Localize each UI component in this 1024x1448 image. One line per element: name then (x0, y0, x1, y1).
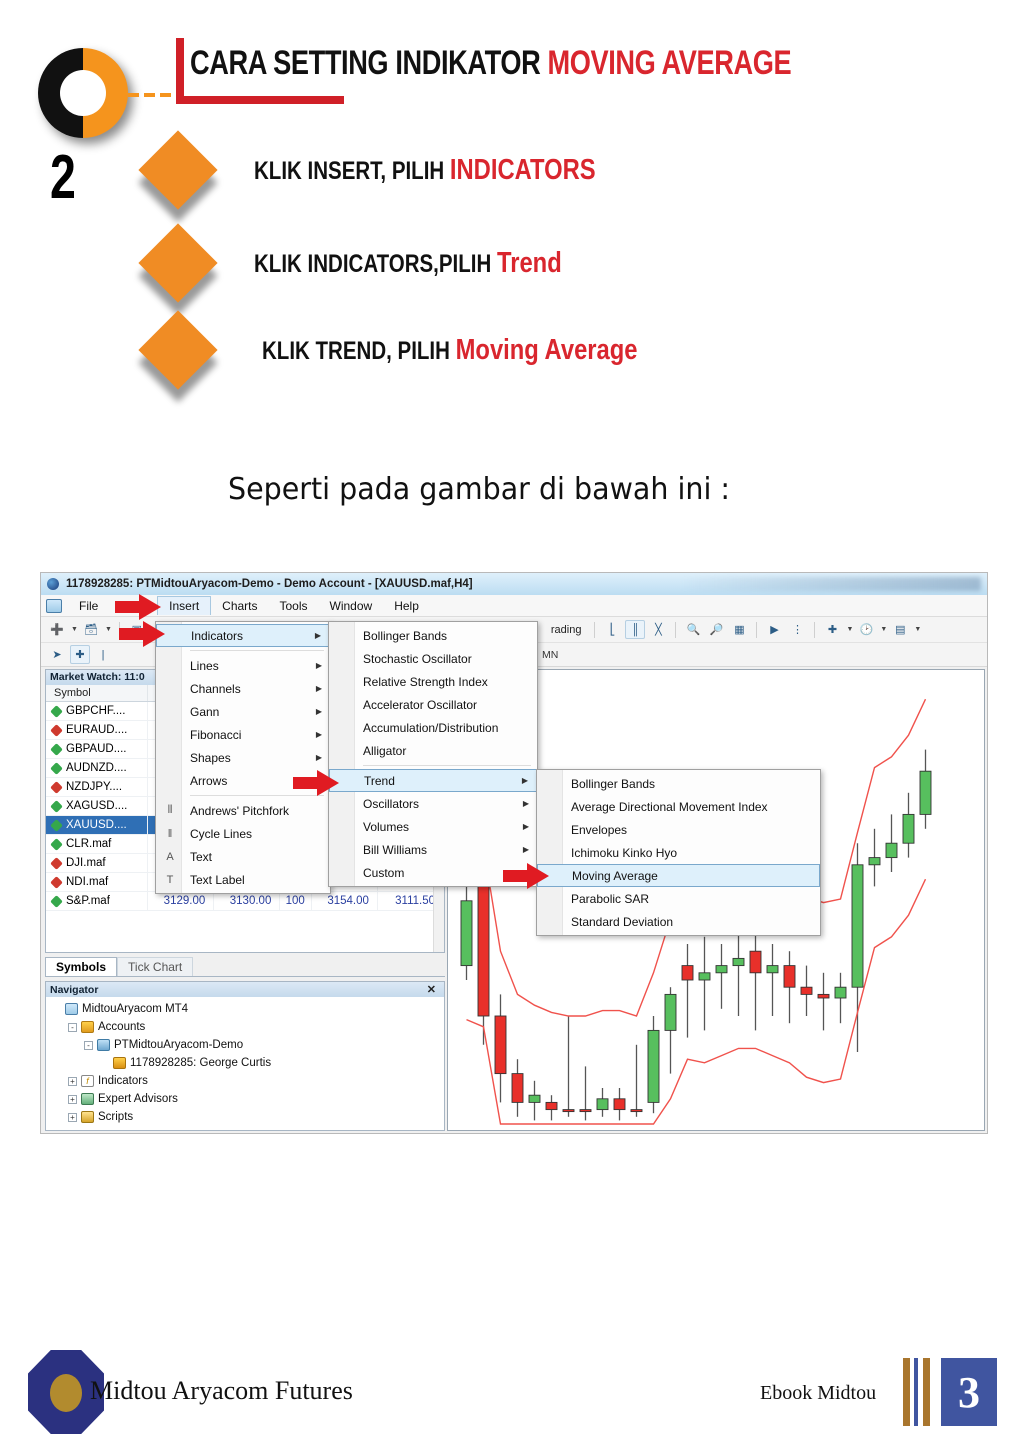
tree-node[interactable]: -Accounts (52, 1018, 444, 1036)
brand-ring-logo (38, 48, 128, 138)
candle-body (461, 901, 472, 966)
caption-text: Seperti pada gambar di bawah ini : (228, 472, 730, 507)
insert-dropdown-menu[interactable]: Indicators▶Lines▶Channels▶Gann▶Fibonacci… (155, 621, 331, 894)
candle-body (529, 1095, 540, 1102)
menu-item-trend[interactable]: Trend▶ (329, 769, 537, 792)
navigator-title: Navigator (50, 984, 98, 996)
menu-separator (363, 765, 531, 766)
menu-item-bollinger-bands[interactable]: Bollinger Bands (329, 624, 537, 647)
blurred-taskbar-region (681, 577, 981, 591)
bullet-accent-2: Trend (497, 247, 562, 279)
candle-body (886, 843, 897, 857)
tree-node[interactable]: -PTMidtouAryacom-Demo (52, 1036, 444, 1054)
bullet-accent-1: INDICATORS (450, 154, 596, 186)
trend-submenu[interactable]: Bollinger BandsAverage Directional Movem… (536, 769, 821, 936)
menu-insert[interactable]: Insert (157, 596, 211, 615)
menu-item-moving-average[interactable]: Moving Average (537, 864, 820, 887)
candle-body (597, 1099, 608, 1110)
chevron-right-icon: ▶ (316, 661, 322, 670)
candle-body (699, 973, 710, 980)
candle-body (665, 994, 676, 1030)
mt4-screenshot: 1178928285: PTMidtouAryacom-Demo - Demo … (40, 572, 988, 1134)
navigator-panel: Navigator ✕ MidtouAryacom MT4-Accounts-P… (45, 981, 445, 1131)
candle-body (512, 1074, 523, 1103)
chevron-right-icon: ▶ (315, 631, 321, 640)
expert-advisors-icon (81, 1093, 94, 1105)
menu-item-label: Ichimoku Kinko Hyo (571, 846, 677, 860)
page-number-badge: 3 (941, 1358, 997, 1426)
candlestick-chart-icon[interactable]: ║ (625, 620, 645, 639)
symbol-label: XAGUSD.... (66, 800, 127, 812)
timeframe-clock-icon[interactable]: 🕑 (856, 620, 876, 639)
annotation-arrow-moving-average (503, 863, 549, 889)
menu-item-accumulation-distribution[interactable]: Accumulation/Distribution (329, 716, 537, 739)
company-name: Midtou Aryacom Futures (90, 1376, 353, 1406)
candle-body (495, 1016, 506, 1074)
up-arrow-icon (50, 800, 63, 813)
mt4-title-text: 1178928285: PTMidtouAryacom-Demo - Demo … (66, 578, 473, 590)
menu-item-label: Volumes (363, 820, 409, 834)
menu-item-label: Accumulation/Distribution (363, 721, 498, 735)
menu-item-gann[interactable]: Gann▶ (156, 700, 330, 723)
diamond-bullet-icon (138, 130, 217, 209)
menu-item-label: Bollinger Bands (363, 629, 447, 643)
menu-file[interactable]: File (68, 599, 109, 613)
col-symbol[interactable]: Symbol (46, 685, 148, 701)
symbol-cell: GBPCHF.... (46, 702, 148, 720)
menu-item-label: Cycle Lines (190, 827, 252, 841)
bullet-plain-3: KLIK TREND, PILIH (262, 337, 456, 365)
symbol-label: S&P.maf (66, 895, 110, 907)
tree-node-label: 1178928285: George Curtis (130, 1057, 271, 1069)
symbol-cell: AUDNZD.... (46, 759, 148, 777)
symbol-label: EURAUD.... (66, 724, 127, 736)
menu-item-cycle-lines[interactable]: ‖Cycle Lines (156, 822, 330, 845)
menu-item-text-label[interactable]: TText Label (156, 868, 330, 891)
menu-item-label: Average Directional Movement Index (571, 800, 768, 814)
company-logo-inner-circle (50, 1374, 82, 1412)
bar-chart-icon[interactable]: ⎣ (602, 620, 622, 639)
close-icon[interactable]: ✕ (427, 983, 440, 996)
menu-item-standard-deviation[interactable]: Standard Deviation (537, 910, 820, 933)
menu-item-stochastic-oscillator[interactable]: Stochastic Oscillator (329, 647, 537, 670)
line-chart-icon[interactable]: ╳ (648, 620, 668, 639)
menu-item-lines[interactable]: Lines▶ (156, 654, 330, 677)
indicators-submenu[interactable]: Bollinger BandsStochastic OscillatorRela… (328, 621, 538, 887)
menu-item-indicators[interactable]: Indicators▶ (156, 624, 330, 647)
diamond-bullet-icon (138, 310, 217, 389)
expander-toggle[interactable]: - (84, 1041, 93, 1050)
symbol-label: NDI.maf (66, 876, 108, 888)
tree-node[interactable]: 1178928285: George Curtis (52, 1054, 444, 1072)
mt4-icon (65, 1003, 78, 1015)
bullet-accent-3: Moving Average (456, 334, 638, 366)
up-arrow-icon (50, 762, 63, 775)
symbol-label: GBPAUD.... (66, 743, 127, 755)
up-arrow-icon (50, 705, 63, 718)
menu-item-label: Envelopes (571, 823, 627, 837)
menu-item-label: Bollinger Bands (571, 777, 655, 791)
menu-item-bollinger-bands[interactable]: Bollinger Bands (537, 772, 820, 795)
tree-node-label: MidtouAryacom MT4 (82, 1003, 188, 1015)
accounts-icon (81, 1021, 94, 1033)
bullet-text-2: KLIK INDICATORS,PILIH Trend (254, 247, 562, 280)
symbol-cell: GBPAUD.... (46, 740, 148, 758)
menu-item-label: Gann (190, 705, 219, 719)
symbol-cell: NDI.maf (46, 873, 148, 891)
candle-body (920, 771, 931, 814)
menu-item-ichimoku-kinko-hyo[interactable]: Ichimoku Kinko Hyo (537, 841, 820, 864)
candle-body (903, 814, 914, 843)
page-header: CARA SETTING INDIKATOR MOVING AVERAGE (0, 0, 1024, 140)
menu-item-label: Trend (364, 774, 395, 788)
spread-cell: 100 (280, 892, 311, 910)
tree-node[interactable]: +Scripts (52, 1108, 444, 1126)
market-watch-tabs: Symbols Tick Chart (45, 955, 445, 977)
menu-item-label: Accelerator Oscillator (363, 698, 477, 712)
chevron-right-icon: ▶ (316, 707, 322, 716)
chevron-right-icon: ▶ (523, 799, 529, 808)
page-title-main: CARA SETTING INDIKATOR (190, 44, 548, 82)
bullet-plain-2: KLIK INDICATORS,PILIH (254, 250, 497, 278)
tree-node[interactable]: MidtouAryacom MT4 (52, 1000, 444, 1018)
candle-body (716, 966, 727, 973)
menu-item-label: Shapes (190, 751, 231, 765)
tree-node-label: Indicators (98, 1075, 148, 1087)
bullet-text-1: KLIK INSERT, PILIH INDICATORS (254, 154, 596, 187)
tab-tick-chart[interactable]: Tick Chart (117, 957, 193, 976)
chevron-right-icon: ▶ (316, 730, 322, 739)
title-rule-horizontal (176, 96, 344, 104)
symbol-label: NZDJPY.... (66, 781, 122, 793)
mt4-app-icon (47, 578, 59, 590)
expander-toggle[interactable]: + (68, 1077, 77, 1086)
mt4-title-bar: 1178928285: PTMidtouAryacom-Demo - Demo … (41, 573, 988, 595)
ebook-label: Ebook Midtou (760, 1382, 876, 1405)
up-arrow-icon (50, 743, 63, 756)
expander-toggle[interactable]: - (68, 1023, 77, 1032)
candle-body (648, 1030, 659, 1102)
tile-windows-icon[interactable]: ▦ (729, 620, 749, 639)
scripts-icon (81, 1111, 94, 1123)
add-indicator-icon[interactable]: ✚ (822, 620, 842, 639)
menu-item-fibonacci[interactable]: Fibonacci▶ (156, 723, 330, 746)
menu-item-accelerator-oscillator[interactable]: Accelerator Oscillator (329, 693, 537, 716)
zoom-out-icon[interactable]: 🔎 (706, 620, 726, 639)
menu-item-label: Arrows (190, 774, 227, 788)
symbol-label: GBPCHF.... (66, 705, 125, 717)
up-arrow-icon (50, 895, 63, 908)
annotation-arrow-indicators (119, 621, 165, 647)
server-icon (97, 1039, 110, 1051)
cursor-icon[interactable]: ➤ (47, 645, 67, 664)
menu-charts[interactable]: Charts (211, 599, 268, 613)
expander-toggle[interactable]: + (68, 1095, 77, 1104)
menu-separator (190, 650, 324, 651)
symbol-cell: XAGUSD.... (46, 797, 148, 815)
menu-item-label: Channels (190, 682, 241, 696)
autotrading-label[interactable]: rading (545, 624, 588, 636)
menu-item-label: Alligator (363, 744, 406, 758)
menu-item-label: Lines (190, 659, 219, 673)
symbol-cell: XAUUSD.... (46, 816, 148, 834)
tree-node-label: Scripts (98, 1111, 133, 1123)
candle-body (801, 987, 812, 994)
templates-icon[interactable]: ▤ (890, 620, 910, 639)
chevron-right-icon: ▶ (523, 845, 529, 854)
candle-body (818, 994, 829, 998)
profiles-icon[interactable]: 🗃 (81, 620, 101, 639)
tab-symbols[interactable]: Symbols (45, 957, 117, 976)
symbol-label: DJI.maf (66, 857, 106, 869)
menu-item-parabolic-sar[interactable]: Parabolic SAR (537, 887, 820, 910)
expander-toggle[interactable]: + (68, 1113, 77, 1122)
chevron-right-icon: ▶ (316, 684, 322, 693)
menu-item-label: Custom (363, 866, 404, 880)
ask-cell: 3130.00 (214, 892, 280, 910)
symbol-label: AUDNZD.... (66, 762, 127, 774)
symbol-cell: EURAUD.... (46, 721, 148, 739)
table-row[interactable]: S&P.maf3129.003130.001003154.003111.50 (46, 892, 444, 911)
diamond-bullet-icon (138, 223, 217, 302)
candle-body (733, 958, 744, 965)
menu-item-volumes[interactable]: Volumes▶ (329, 815, 537, 838)
menu-item-label: Text Label (190, 873, 245, 887)
annotation-arrow-trend (293, 770, 339, 796)
tree-node[interactable]: +Expert Advisors (52, 1090, 444, 1108)
menu-item-label: Text (190, 850, 212, 864)
menu-window[interactable]: Window (319, 599, 384, 613)
chevron-right-icon: ▶ (522, 776, 528, 785)
tree-node-label: Expert Advisors (98, 1093, 178, 1105)
menu-item-shapes[interactable]: Shapes▶ (156, 746, 330, 769)
symbol-cell: CLR.maf (46, 835, 148, 853)
navigator-tree: MidtouAryacom MT4-Accounts-PTMidtouAryac… (46, 997, 444, 1126)
symbol-label: XAUUSD.... (66, 819, 127, 831)
auto-scroll-icon[interactable]: ▶ (764, 620, 784, 639)
candle-body (631, 1110, 642, 1112)
menu-item-label: Stochastic Oscillator (363, 652, 472, 666)
annotation-arrow-insert (115, 594, 161, 620)
chevron-right-icon: ▶ (316, 753, 322, 762)
candle-body (852, 865, 863, 987)
candle-body (478, 865, 489, 1016)
menu-item-icon: ‖ (163, 828, 177, 840)
menu-tools[interactable]: Tools (269, 599, 319, 613)
candle-body (546, 1102, 557, 1109)
up-arrow-icon (50, 838, 63, 851)
candle-body (580, 1110, 591, 1112)
candle-body (682, 966, 693, 980)
menu-item-label: Bill Williams (363, 843, 427, 857)
page-title-accent: MOVING AVERAGE (548, 44, 792, 82)
menu-item-bill-williams[interactable]: Bill Williams▶ (329, 838, 537, 861)
menu-item-channels[interactable]: Channels▶ (156, 677, 330, 700)
menu-item-alligator[interactable]: Alligator (329, 739, 537, 762)
crosshair-icon[interactable]: ✚ (70, 645, 90, 664)
tree-node-label: PTMidtouAryacom-Demo (114, 1039, 243, 1051)
bullet-text-3: KLIK TREND, PILIH Moving Average (262, 334, 638, 367)
menu-item-label: Oscillators (363, 797, 419, 811)
page-title: CARA SETTING INDIKATOR MOVING AVERAGE (190, 44, 846, 83)
bid-cell: 3129.00 (148, 892, 214, 910)
menu-item-andrews-pitchfork[interactable]: ⫴Andrews' Pitchfork (156, 799, 330, 822)
menu-item-icon: T (163, 874, 177, 886)
bullet-plain-1: KLIK INSERT, PILIH (254, 157, 450, 185)
menu-item-label: Standard Deviation (571, 915, 673, 929)
symbol-cell: S&P.maf (46, 892, 148, 910)
window-menu-icon[interactable] (46, 599, 62, 613)
menu-item-text[interactable]: AText (156, 845, 330, 868)
vertical-line-icon[interactable]: | (93, 645, 113, 664)
menu-item-icon: ⫴ (163, 804, 177, 817)
down-arrow-icon (50, 876, 63, 889)
menu-item-icon: A (163, 851, 177, 863)
user-icon (113, 1057, 126, 1069)
mt4-menu-bar: File View Insert Charts Tools Window Hel… (41, 595, 988, 617)
candle-body (869, 858, 880, 865)
tree-node-label: Accounts (98, 1021, 145, 1033)
menu-item-label: Andrews' Pitchfork (190, 804, 289, 818)
menu-item-label: Indicators (191, 629, 243, 643)
up-arrow-icon (50, 819, 63, 832)
title-rule-vertical (176, 38, 184, 104)
candle-body (767, 966, 778, 973)
candle-body (614, 1099, 625, 1110)
candle-body (784, 966, 795, 988)
candle-body (563, 1110, 574, 1112)
symbol-label: CLR.maf (66, 838, 111, 850)
down-arrow-icon (50, 781, 63, 794)
new-chart-icon[interactable]: ➕ (47, 620, 67, 639)
menu-item-label: Fibonacci (190, 728, 241, 742)
menu-item-relative-strength-index[interactable]: Relative Strength Index (329, 670, 537, 693)
menu-help[interactable]: Help (383, 599, 430, 613)
dashed-connector (128, 93, 176, 96)
indicators-icon: f (81, 1075, 94, 1087)
page-footer: Midtou Aryacom Futures Ebook Midtou 3 (0, 1340, 1024, 1448)
menu-item-envelopes[interactable]: Envelopes (537, 818, 820, 841)
navigator-header: Navigator ✕ (46, 982, 444, 997)
menu-item-label: Parabolic SAR (571, 892, 649, 906)
high-cell: 3154.00 (312, 892, 378, 910)
down-arrow-icon (50, 857, 63, 870)
menu-item-label: Moving Average (572, 869, 658, 883)
zoom-in-icon[interactable]: 🔍 (683, 620, 703, 639)
tree-node[interactable]: +fIndicators (52, 1072, 444, 1090)
chart-shift-icon[interactable]: ⋮ (787, 620, 807, 639)
menu-item-label: Relative Strength Index (363, 675, 488, 689)
menu-item-oscillators[interactable]: Oscillators▶ (329, 792, 537, 815)
chevron-right-icon: ▶ (523, 822, 529, 831)
candle-body (750, 951, 761, 973)
step-number: 2 (50, 142, 76, 213)
menu-item-average-directional-movement-index[interactable]: Average Directional Movement Index (537, 795, 820, 818)
candle-body (835, 987, 846, 998)
symbol-cell: DJI.maf (46, 854, 148, 872)
down-arrow-icon (50, 724, 63, 737)
symbol-cell: NZDJPY.... (46, 778, 148, 796)
timeframe-mn[interactable]: MN (535, 649, 565, 661)
